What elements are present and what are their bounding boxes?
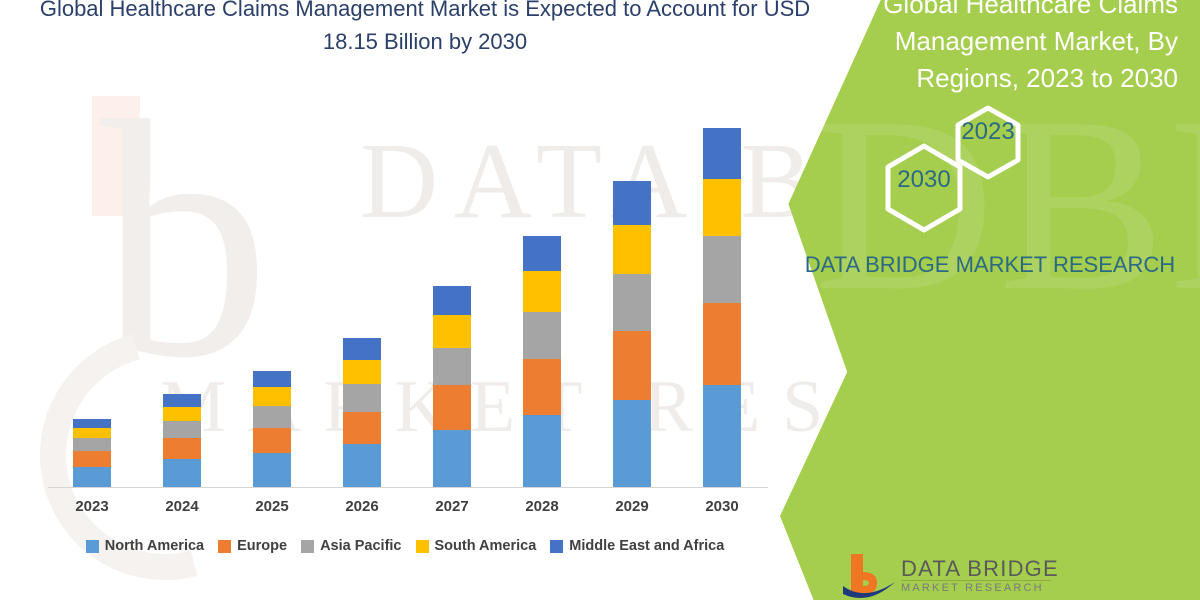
- panel-brand-line: DATA BRIDGE MARKET RESEARCH: [780, 250, 1200, 280]
- bar-segment: [343, 360, 381, 384]
- legend-label: Europe: [237, 538, 287, 554]
- bar-segment: [253, 428, 291, 454]
- bar-segment: [433, 348, 471, 386]
- bar-segment: [163, 459, 201, 487]
- bar-segment: [703, 385, 741, 487]
- bar-segment: [613, 331, 651, 400]
- logo-divider: [901, 580, 1051, 581]
- hexagon-2023-label: 2023: [948, 118, 1028, 146]
- bar-segment: [253, 371, 291, 387]
- bar-segment: [73, 419, 111, 428]
- x-axis-tick-2029: 2029: [592, 498, 672, 515]
- infographic-root: b DATA BRIDGE MARKET RESEARCH Global Hea…: [0, 0, 1200, 600]
- bar-segment: [523, 271, 561, 312]
- legend-label: Asia Pacific: [320, 538, 401, 554]
- bar-segment: [253, 453, 291, 487]
- legend-item[interactable]: Asia Pacific: [301, 538, 401, 554]
- x-axis-tick-2024: 2024: [142, 498, 222, 515]
- bar-segment: [253, 406, 291, 428]
- bar-segment: [163, 421, 201, 438]
- bar-2028[interactable]: [523, 236, 561, 487]
- bar-2023[interactable]: [73, 419, 111, 487]
- bar-segment: [343, 384, 381, 412]
- legend-label: North America: [105, 538, 204, 554]
- legend-item[interactable]: North America: [86, 538, 204, 554]
- bar-segment: [163, 438, 201, 459]
- legend-item[interactable]: South America: [416, 538, 537, 554]
- bar-segment: [613, 181, 651, 225]
- bar-segment: [343, 412, 381, 445]
- legend-label: South America: [435, 538, 537, 554]
- x-axis-tick-2027: 2027: [412, 498, 492, 515]
- panel-title: Global Healthcare Claims Management Mark…: [818, 0, 1178, 97]
- bar-segment: [703, 128, 741, 178]
- bar-segment: [703, 303, 741, 384]
- x-axis-tick-2028: 2028: [502, 498, 582, 515]
- x-axis-tick-2026: 2026: [322, 498, 402, 515]
- bar-segment: [523, 359, 561, 415]
- bar-segment: [433, 315, 471, 348]
- chart-area: Global Healthcare Claims Management Mark…: [0, 0, 820, 600]
- logo-tagline: MARKET RESEARCH: [901, 582, 1044, 594]
- bar-segment: [163, 394, 201, 407]
- x-axis-tick-2030: 2030: [682, 498, 762, 515]
- bar-segment: [163, 407, 201, 422]
- logo-mark-icon: [843, 552, 899, 598]
- x-axis-line: [48, 487, 768, 488]
- legend-swatch-icon: [86, 540, 99, 553]
- legend-swatch-icon: [218, 540, 231, 553]
- bar-segment: [433, 286, 471, 315]
- bar-segment: [343, 444, 381, 487]
- legend-label: Middle East and Africa: [569, 538, 724, 554]
- bar-segment: [523, 236, 561, 272]
- logo: DATA BRIDGE MARKET RESEARCH: [843, 552, 1083, 600]
- legend-swatch-icon: [550, 540, 563, 553]
- bar-segment: [613, 225, 651, 274]
- x-axis-tick-2023: 2023: [52, 498, 132, 515]
- chart-title: Global Healthcare Claims Management Mark…: [30, 0, 820, 58]
- logo-name: DATA BRIDGE: [901, 556, 1059, 582]
- bar-segment: [433, 385, 471, 429]
- bar-2030[interactable]: [703, 128, 741, 487]
- bar-segment: [703, 236, 741, 304]
- bar-segment: [523, 312, 561, 359]
- bar-segment: [73, 451, 111, 467]
- right-panel: DBMR Global Healthcare Claims Management…: [780, 0, 1200, 600]
- legend-swatch-icon: [416, 540, 429, 553]
- bar-segment: [73, 467, 111, 487]
- chart-legend: North AmericaEuropeAsia PacificSouth Ame…: [0, 538, 810, 554]
- bar-segment: [523, 415, 561, 487]
- bar-segment: [613, 274, 651, 331]
- x-axis-tick-2025: 2025: [232, 498, 312, 515]
- hexagon-2030-label: 2030: [884, 166, 964, 194]
- legend-item[interactable]: Middle East and Africa: [550, 538, 724, 554]
- bar-segment: [253, 387, 291, 406]
- bar-segment: [73, 438, 111, 450]
- legend-swatch-icon: [301, 540, 314, 553]
- bar-segment: [613, 400, 651, 487]
- bar-2025[interactable]: [253, 371, 291, 487]
- bar-2026[interactable]: [343, 338, 381, 487]
- legend-item[interactable]: Europe: [218, 538, 287, 554]
- bar-segment: [73, 428, 111, 439]
- bar-segment: [343, 338, 381, 360]
- bar-2029[interactable]: [613, 181, 651, 487]
- bar-2024[interactable]: [163, 394, 201, 487]
- bar-segment: [433, 430, 471, 487]
- bar-2027[interactable]: [433, 286, 471, 487]
- bar-segment: [703, 179, 741, 236]
